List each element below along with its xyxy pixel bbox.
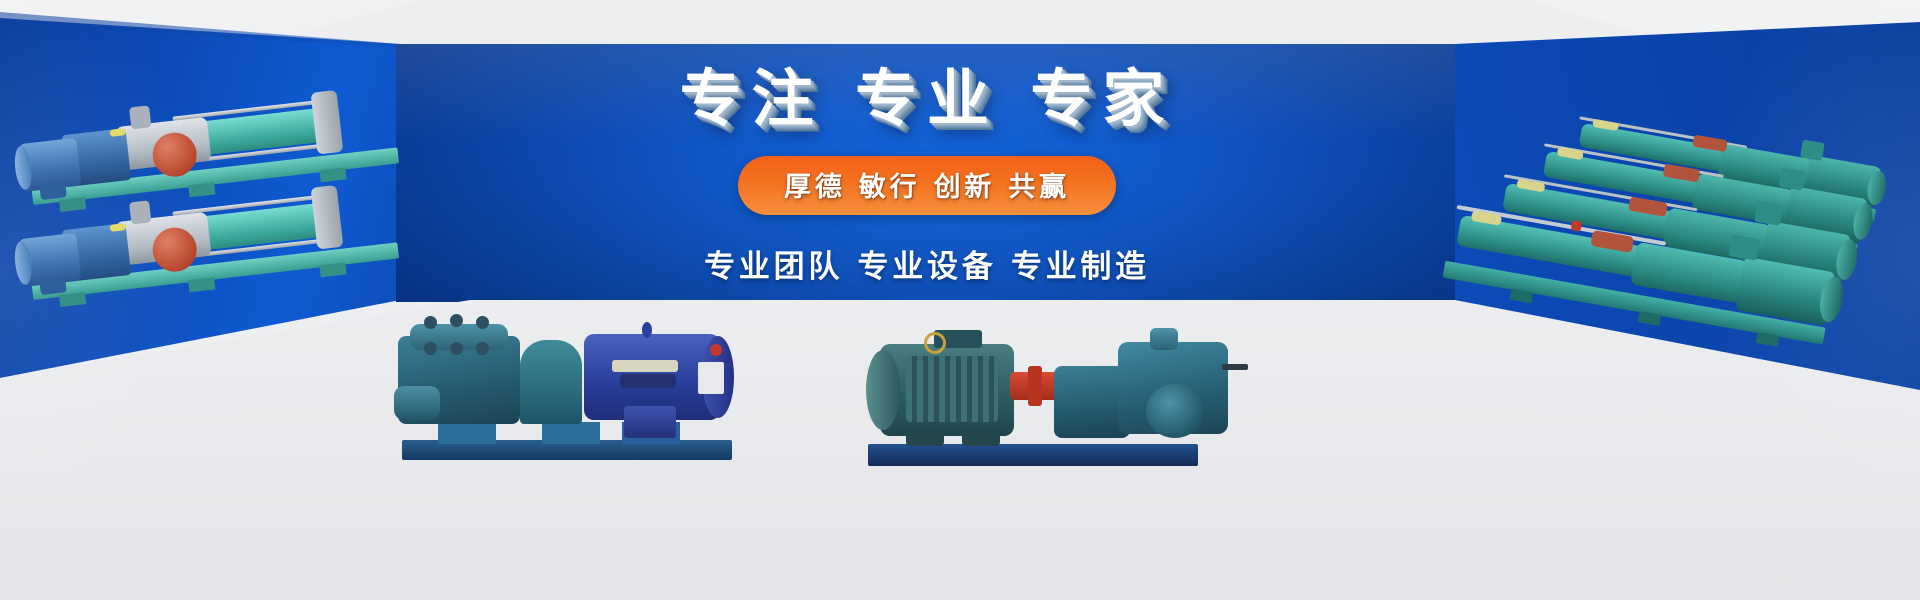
banner-copy: 专注 专业 专家 厚德 敏行 创新 共赢 专业团队 专业设备 专业制造 <box>396 44 1458 344</box>
motor-cooling-fins <box>906 356 998 422</box>
base-foot <box>319 262 346 277</box>
red-valve <box>1571 220 1583 232</box>
motor-nameplate <box>698 362 724 394</box>
discharge-flange <box>311 185 344 250</box>
motor-end-cap <box>866 350 900 430</box>
base-foot <box>1638 311 1662 326</box>
motor-vent-grille <box>620 374 676 388</box>
discharge-flange <box>1146 384 1204 438</box>
motor-cooling-fins <box>612 360 678 372</box>
inspection-cap <box>129 200 151 224</box>
base-support <box>438 422 496 444</box>
coupling-flange <box>1028 366 1042 406</box>
junction-box <box>1754 201 1783 226</box>
junction-box <box>1800 139 1825 161</box>
inspection-cap <box>129 105 151 129</box>
tagline-pill-button[interactable]: 厚德 敏行 创新 共赢 <box>738 156 1116 215</box>
terminal-box <box>624 406 676 438</box>
junction-box <box>1779 168 1806 191</box>
discharge-flange <box>311 90 344 155</box>
motor-foot <box>906 432 944 446</box>
tagline-pill-label: 厚德 敏行 创新 共赢 <box>784 165 1070 204</box>
banner-subtitle: 专业团队 专业设备 专业制造 <box>704 241 1150 286</box>
terminal-box <box>39 278 66 295</box>
base-foot <box>59 292 86 307</box>
motor-foot <box>962 432 1000 446</box>
base-foot <box>188 277 215 292</box>
base-support <box>542 422 600 444</box>
discharge-pipe <box>1222 364 1248 370</box>
red-marker <box>710 344 722 356</box>
junction-box <box>1729 234 1760 261</box>
page-title: 专注 专业 专家 <box>680 68 1175 130</box>
banner-stage: 专注 专业 专家 厚德 敏行 创新 共赢 专业团队 专业设备 专业制造 <box>0 0 1920 600</box>
pump-base-plate <box>868 444 1198 466</box>
side-port <box>394 386 440 420</box>
coupling-guard <box>520 340 582 424</box>
right-pump-group <box>1460 70 1920 370</box>
